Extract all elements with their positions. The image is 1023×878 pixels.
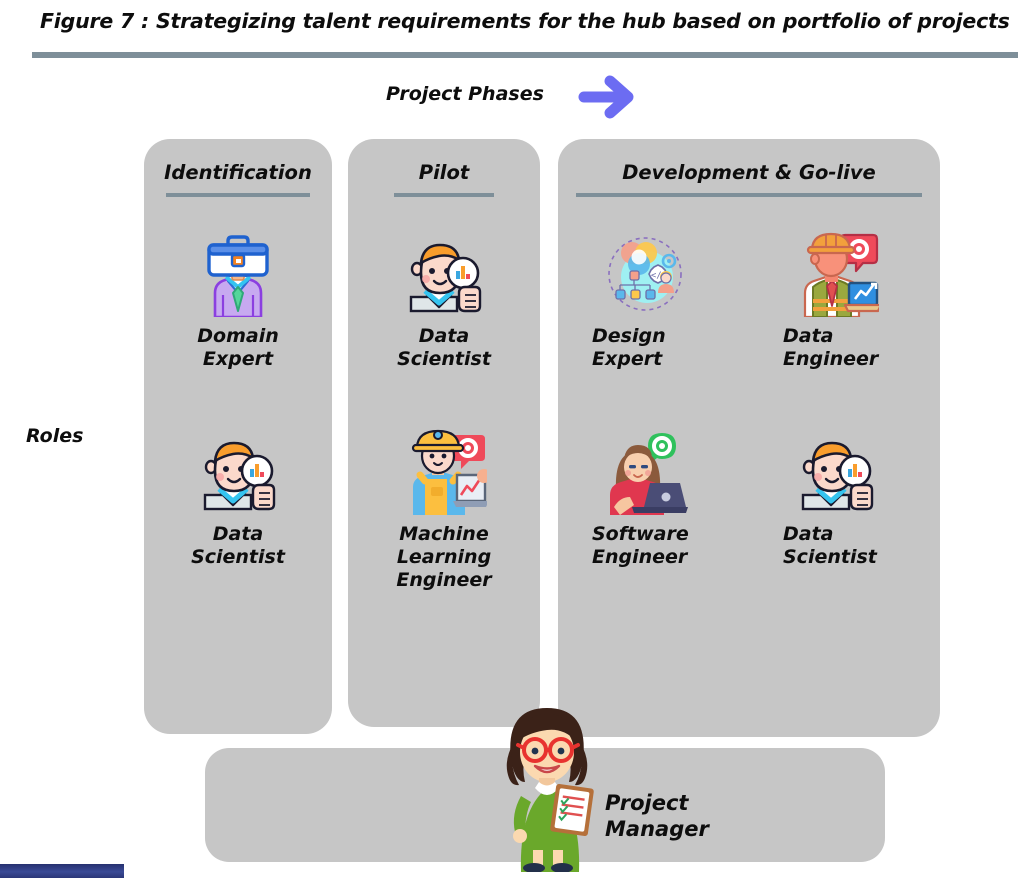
phase-header-pilot: Pilot (348, 161, 540, 184)
role-card-domain-expert[interactable]: Domain Expert (144, 227, 332, 425)
roles-label: Roles (26, 425, 83, 447)
software-engineer-icon (602, 429, 688, 515)
phase-header-development: Development & Go-live (558, 161, 940, 184)
briefcase-head-person-icon (195, 231, 281, 317)
roles-grid-pilot: Data Scientist (348, 227, 540, 727)
phase-header-underline (166, 193, 310, 197)
phase-panel-development[interactable]: Development & Go-live (558, 139, 940, 737)
role-card-software-engineer[interactable]: Software Engineer (558, 425, 749, 623)
role-card-ml-engineer[interactable]: Machine Learning Engineer (348, 425, 540, 623)
phase-panel-pilot[interactable]: Pilot (348, 139, 540, 727)
role-card-data-scientist[interactable]: Data Scientist (348, 227, 540, 425)
role-label: Data Engineer (783, 325, 878, 371)
role-label: Machine Learning Engineer (396, 523, 491, 592)
role-label: Data Scientist (783, 523, 877, 569)
project-manager-woman-icon (487, 700, 607, 872)
phase-header-identification: Identification (144, 161, 332, 184)
project-manager-label: Project Manager (605, 790, 709, 842)
roles-grid-development: </> Design Expert (558, 227, 940, 737)
role-label: Design Expert (592, 325, 666, 371)
role-card-data-scientist[interactable]: Data Scientist (144, 425, 332, 623)
project-phases-label: Project Phases (386, 83, 544, 105)
phase-panel-identification[interactable]: Identification (144, 139, 332, 734)
role-label: Software Engineer (592, 523, 689, 569)
right-arrow-icon (578, 74, 640, 120)
page-title: Figure 7 : Strategizing talent requireme… (40, 6, 1020, 36)
ml-engineer-icon (401, 429, 487, 515)
design-expert-icon: </> (602, 231, 688, 317)
roles-grid-identification: Domain Expert (144, 227, 332, 734)
role-label: Domain Expert (197, 325, 278, 371)
role-card-design-expert[interactable]: </> Design Expert (558, 227, 749, 425)
role-card-data-engineer[interactable]: Data Engineer (749, 227, 940, 425)
role-label: Data Scientist (397, 325, 491, 371)
role-card-data-scientist[interactable]: Data Scientist (749, 425, 940, 623)
phase-header-underline (576, 193, 922, 197)
data-scientist-icon (195, 429, 281, 515)
data-scientist-icon (401, 231, 487, 317)
role-label: Data Scientist (191, 523, 285, 569)
title-divider (32, 52, 1018, 58)
data-scientist-icon (793, 429, 879, 515)
phase-header-underline (394, 193, 494, 197)
data-engineer-icon (793, 231, 879, 317)
